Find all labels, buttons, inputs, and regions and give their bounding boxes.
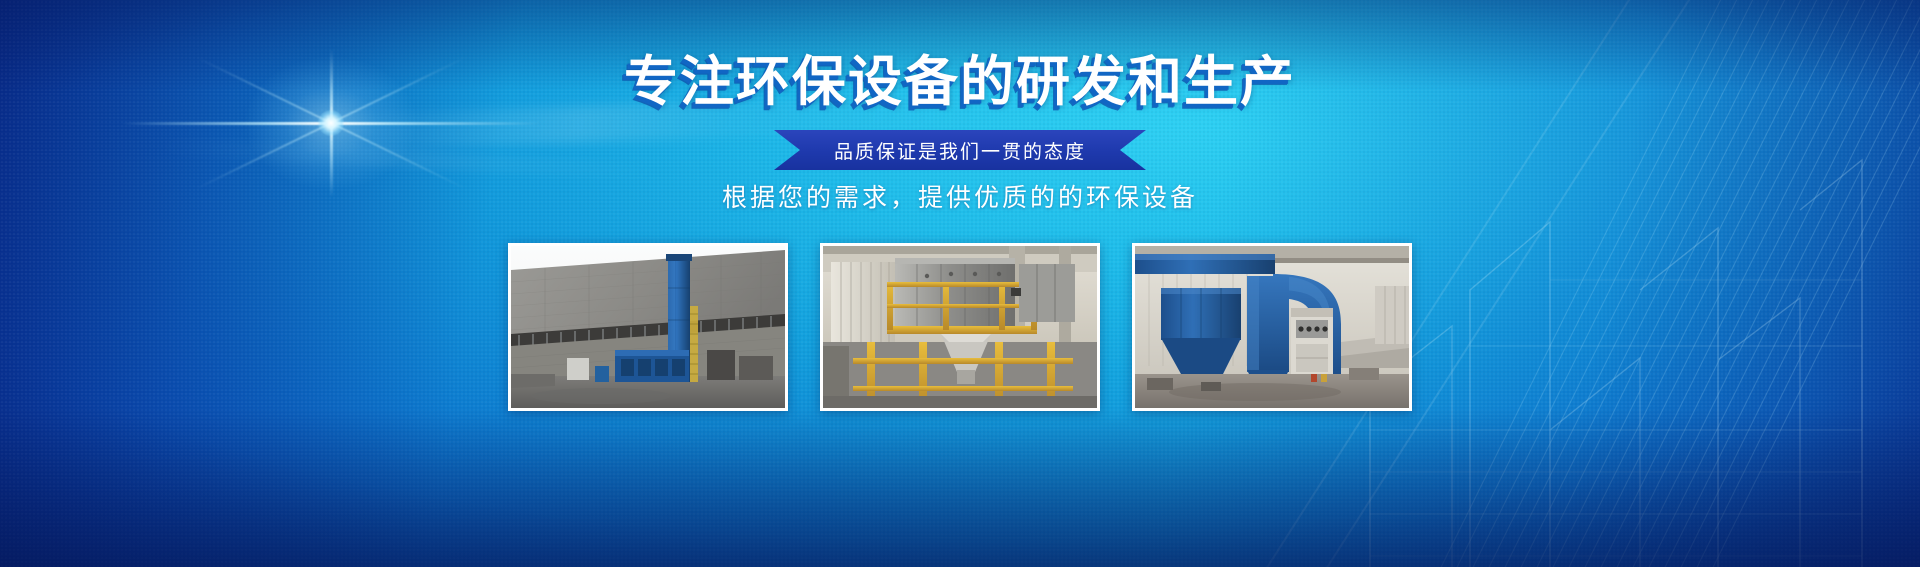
photo-strip [0,243,1920,411]
banner-headline: 专注环保设备的研发和生产 [0,55,1920,109]
banner-subline: 根据您的需求，提供优质的的环保设备 [0,178,1920,214]
photo-factory-building [508,243,788,411]
photo-catalytic-combustion-unit [820,243,1100,411]
hero-banner: 专注环保设备的研发和生产 品质保证是我们一贯的态度 根据您的需求，提供优质的的环… [0,0,1920,567]
quality-badge-label: 品质保证是我们一贯的态度 [834,137,1086,164]
badge-container: 品质保证是我们一贯的态度 [0,130,1920,170]
quality-badge: 品质保证是我们一贯的态度 [774,130,1146,170]
photo-dust-collector-system [1132,243,1412,411]
banner-content: 专注环保设备的研发和生产 品质保证是我们一贯的态度 根据您的需求，提供优质的的环… [0,0,1920,567]
